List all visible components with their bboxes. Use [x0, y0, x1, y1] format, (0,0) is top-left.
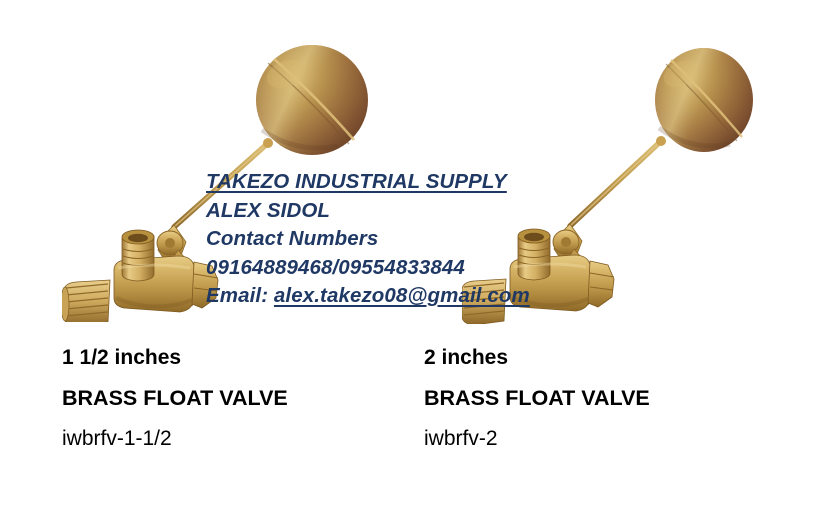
contact-info-block: TAKEZO INDUSTRIAL SUPPLY ALEX SIDOL Cont… — [206, 168, 530, 311]
contact-numbers-label: Contact Numbers — [206, 225, 530, 254]
company-name: TAKEZO INDUSTRIAL SUPPLY — [206, 168, 530, 197]
contact-phone-numbers: 09164889468/09554833844 — [206, 254, 530, 283]
float-rod-right — [570, 136, 666, 226]
float-ball-left — [256, 45, 368, 155]
contact-person-name: ALEX SIDOL — [206, 197, 530, 226]
valve-body-left — [62, 230, 218, 322]
contact-email-line: Email: alex.takezo08@gmail.com — [206, 282, 530, 311]
product-sheet-canvas: TAKEZO INDUSTRIAL SUPPLY ALEX SIDOL Cont… — [0, 0, 834, 532]
product-spec-right: 2 inches BRASS FLOAT VALVE iwbrfv-2 — [424, 345, 650, 452]
product-size-right: 2 inches — [424, 345, 650, 371]
product-code-left: iwbrfv-1-1/2 — [62, 426, 288, 452]
product-name-left: BRASS FLOAT VALVE — [62, 385, 288, 411]
float-ball-right — [655, 48, 753, 152]
product-spec-left: 1 1/2 inches BRASS FLOAT VALVE iwbrfv-1-… — [62, 345, 288, 452]
product-size-left: 1 1/2 inches — [62, 345, 288, 371]
email-address[interactable]: alex.takezo08@gmail.com — [274, 284, 530, 307]
email-label: Email: — [206, 284, 274, 307]
product-code-right: iwbrfv-2 — [424, 426, 650, 452]
product-name-right: BRASS FLOAT VALVE — [424, 385, 650, 411]
